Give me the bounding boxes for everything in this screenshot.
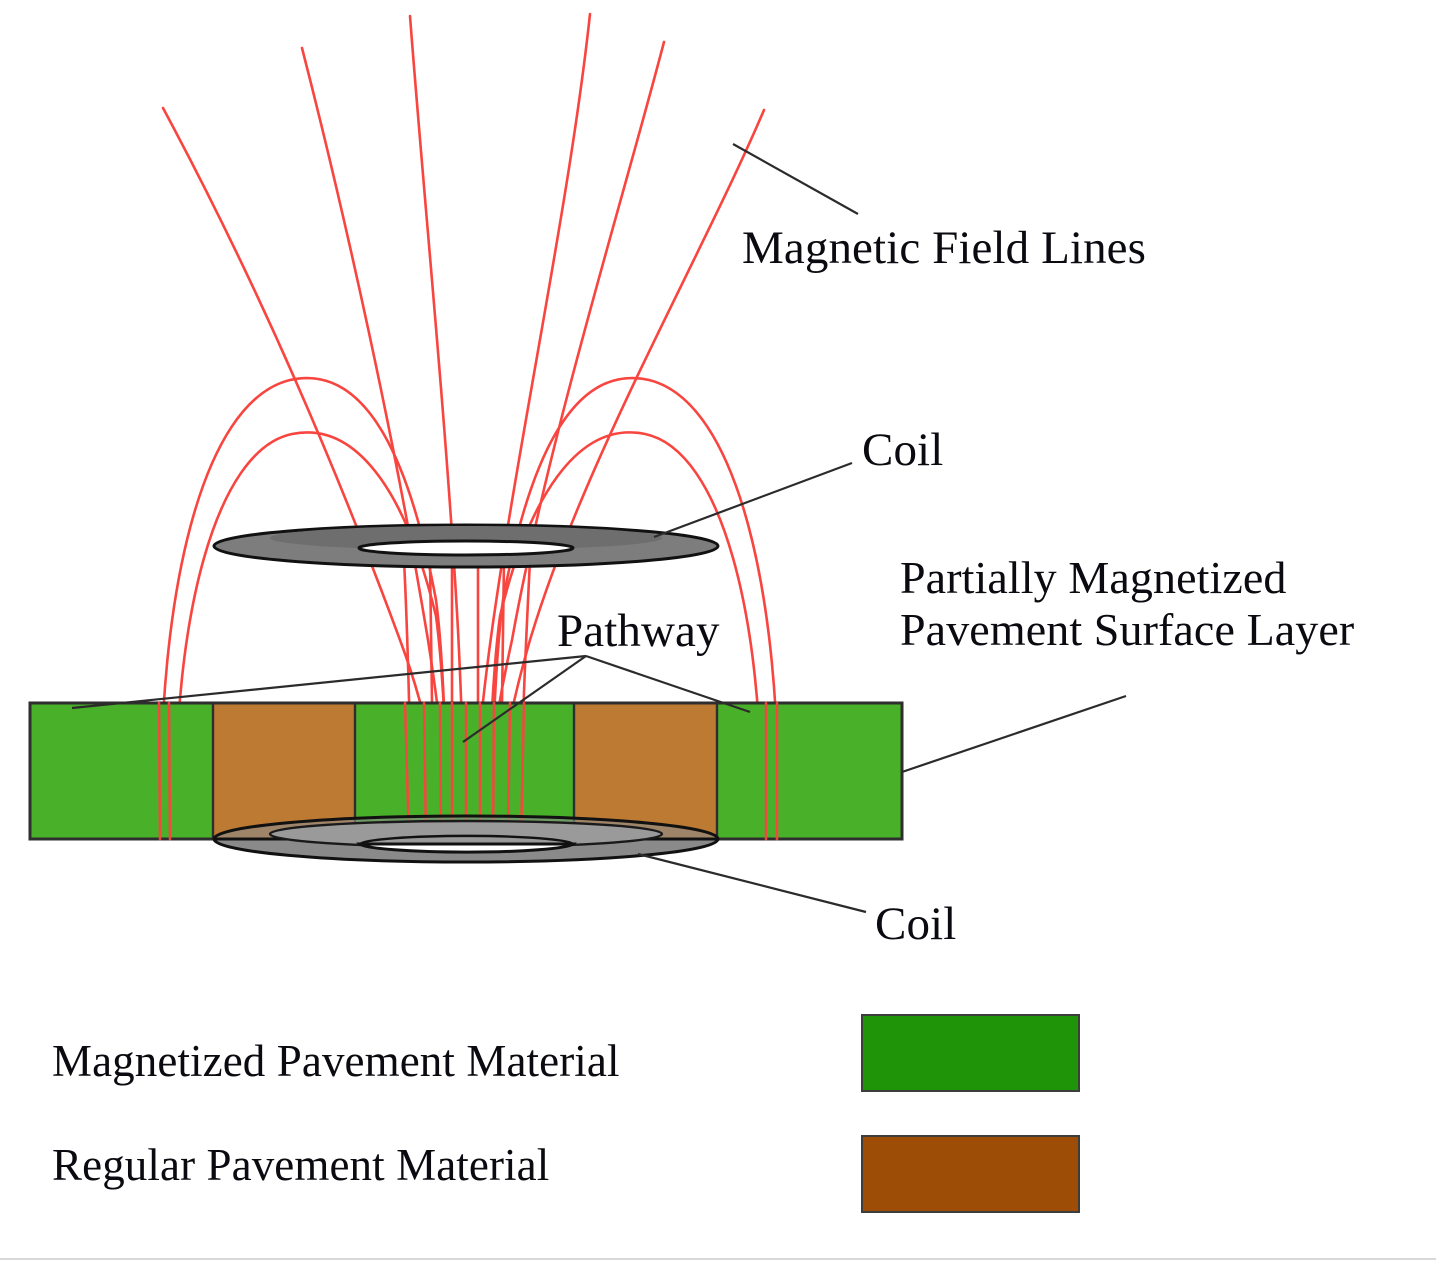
leader-partially-magnetized [902,696,1126,772]
bottom-coil-hole [360,844,573,852]
top-coil-hole [359,541,573,555]
diagram-canvas: Magnetic Field Lines Coil Coil Pathway P… [0,0,1436,1268]
legend-label-magnetized-pavement-material: Magnetized Pavement Material [52,1036,620,1086]
bottom-divider [0,1258,1436,1260]
leader-coil-top [654,463,852,537]
top-coil [214,525,718,567]
label-partially-magnetized-line2: Pavement Surface Layer [900,604,1436,656]
label-pathway: Pathway [557,605,720,658]
leader-pathway-left [72,656,586,708]
field-line-pavement-2 [169,703,170,839]
leader-magnetic-field-lines [733,144,858,214]
leader-coil-bottom [638,854,866,912]
legend-swatch-magnetized-pavement-material [861,1014,1080,1092]
pavement-segment-magnetized-left [30,703,213,839]
legend-label-regular-pavement-material: Regular Pavement Material [52,1140,549,1190]
label-coil-bottom: Coil [875,898,956,951]
legend-swatch-regular-pavement-material [861,1135,1080,1213]
pavement-segment-magnetized-right [717,703,902,839]
label-magnetic-field-lines: Magnetic Field Lines [742,222,1146,275]
label-partially-magnetized-line1: Partially Magnetized [900,552,1287,603]
field-line-pavement-1 [159,703,160,839]
label-coil-top: Coil [862,424,943,477]
label-partially-magnetized-pavement-surface-layer: Partially Magnetized Pavement Surface La… [900,552,1436,655]
